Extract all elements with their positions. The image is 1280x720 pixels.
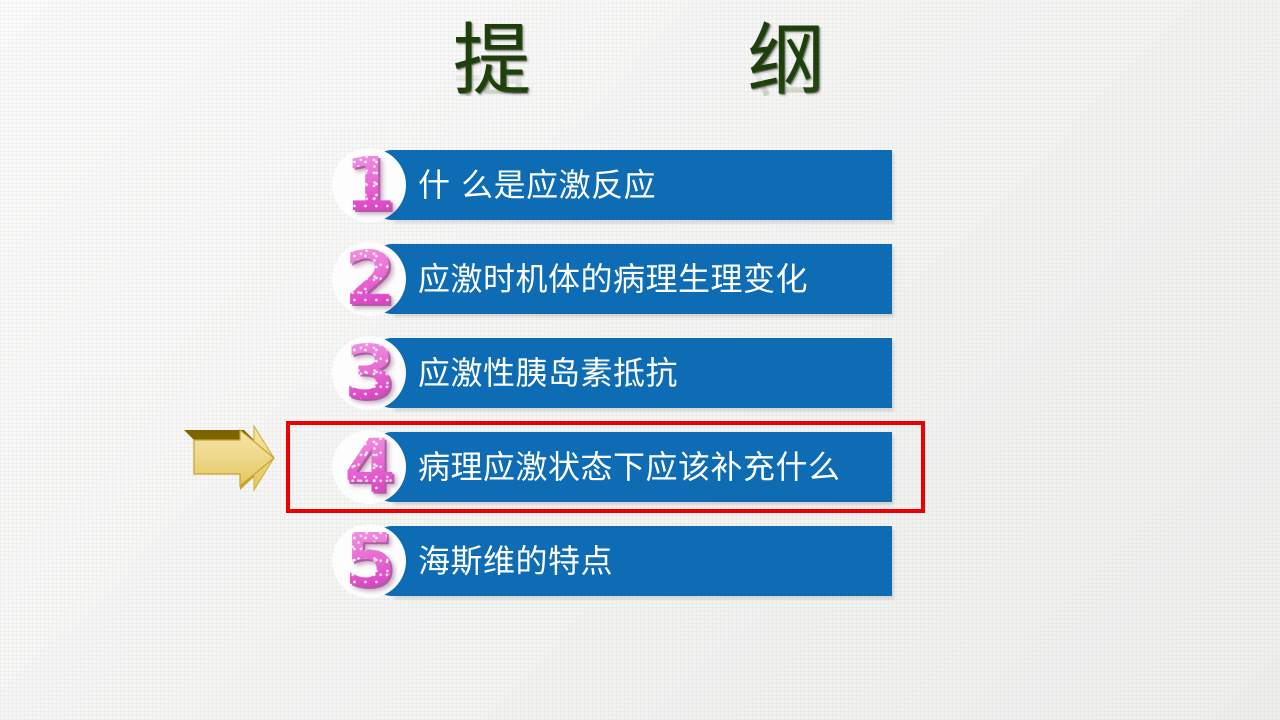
highlight-rectangle xyxy=(286,421,925,513)
outline-item-5[interactable]: 5 海斯维的特点 xyxy=(330,526,892,596)
outline-item-5-number: 5 xyxy=(330,514,410,608)
pointer-arrow-icon xyxy=(178,424,280,496)
outline-list: 1 什 么是应激反应 2 应激时机体的病理生理变化 3 应激性胰岛素抵抗 4 病… xyxy=(0,0,1280,720)
outline-item-2[interactable]: 2 应激时机体的病理生理变化 xyxy=(330,244,892,314)
outline-item-2-number: 2 xyxy=(330,232,410,326)
outline-item-1-number: 1 xyxy=(330,138,410,232)
outline-item-3-number: 3 xyxy=(330,326,410,420)
outline-item-2-label: 应激时机体的病理生理变化 xyxy=(418,244,808,314)
slide-canvas: 提 纲 提 纲 1 什 么是应激反应 2 应激时机体的病理生理变化 3 应激性胰… xyxy=(0,0,1280,720)
outline-item-5-label: 海斯维的特点 xyxy=(418,526,613,596)
outline-item-3-label: 应激性胰岛素抵抗 xyxy=(418,338,678,408)
outline-item-1-label: 什 么是应激反应 xyxy=(418,150,656,220)
outline-item-3[interactable]: 3 应激性胰岛素抵抗 xyxy=(330,338,892,408)
outline-item-1[interactable]: 1 什 么是应激反应 xyxy=(330,150,892,220)
